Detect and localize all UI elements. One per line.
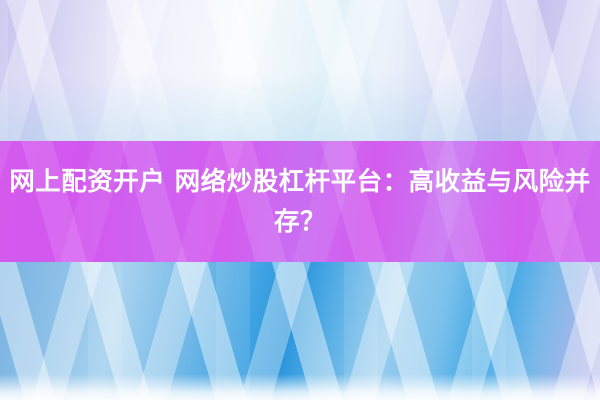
top-cyan-fade (0, 71, 600, 141)
banner-bottom-gradient (0, 262, 600, 400)
bottom-white-fade (0, 374, 600, 400)
banner-title: 网上配资开户 网络炒股杠杆平台：高收益与风险并存？ (0, 141, 600, 262)
banner-top-gradient (0, 0, 600, 141)
promo-banner: 网上配资开户 网络炒股杠杆平台：高收益与风险并存？ (0, 0, 600, 400)
